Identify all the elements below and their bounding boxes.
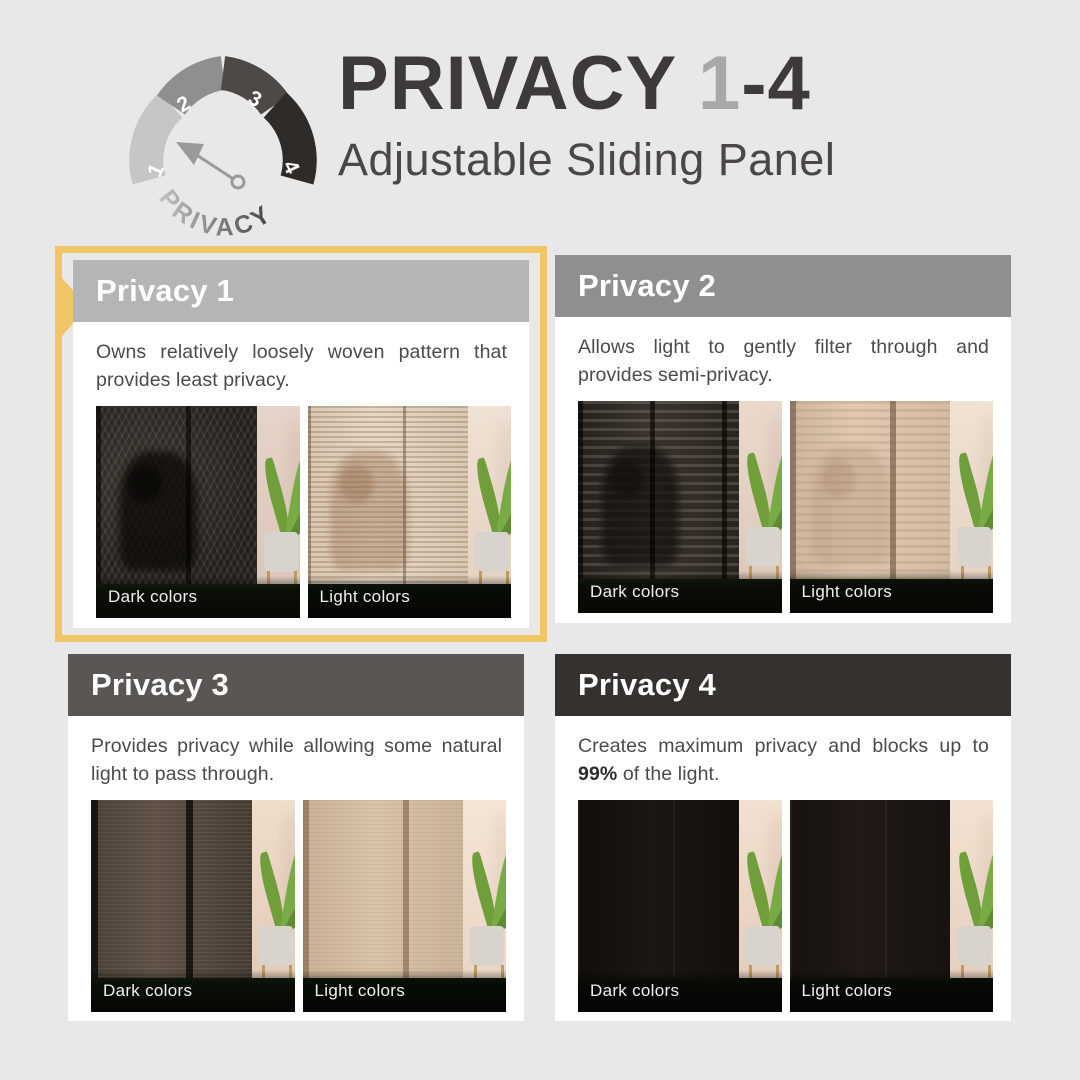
card-description-text-3: Provides privacy while allowing some nat… bbox=[91, 735, 502, 785]
photo-light-2[interactable]: Light colors bbox=[790, 401, 994, 613]
card-description-2: Allows light to gently filter through an… bbox=[555, 317, 1011, 389]
privacy-gauge-logo: 1 2 3 4 PRIVACY bbox=[128, 48, 318, 238]
panel-seams bbox=[303, 800, 464, 987]
plant-pot bbox=[957, 926, 991, 966]
card-description-4: Creates maximum privacy and blocks up to… bbox=[555, 716, 1011, 788]
panel-seams bbox=[578, 800, 739, 987]
panel-seams bbox=[790, 401, 951, 588]
card-description-tail-4: of the light. bbox=[617, 763, 719, 785]
plant-pot bbox=[264, 532, 298, 572]
photo-caption-light-3: Light colors bbox=[303, 970, 507, 1012]
photo-row-4: Dark colors bbox=[555, 788, 1011, 1028]
plant-pot bbox=[259, 926, 293, 966]
card-header-4: Privacy 4 bbox=[555, 654, 1011, 716]
card-title-1: Privacy 1 bbox=[96, 273, 234, 309]
sliding-panels bbox=[96, 406, 257, 593]
photo-dark-3[interactable]: Dark colors bbox=[91, 800, 295, 1012]
card-title-3: Privacy 3 bbox=[91, 667, 229, 703]
page-title-range-rest: -4 bbox=[741, 41, 811, 126]
sliding-panels bbox=[308, 406, 469, 593]
card-title-4: Privacy 4 bbox=[578, 667, 716, 703]
page-title-number-one: 1 bbox=[698, 41, 741, 126]
sliding-panels bbox=[578, 401, 739, 588]
page-title: PRIVACY 1-4 bbox=[338, 46, 938, 122]
card-header-1: Privacy 1 bbox=[73, 260, 529, 322]
sliding-panels bbox=[790, 401, 951, 588]
privacy-card-4[interactable]: Privacy 4 Creates maximum privacy and bl… bbox=[555, 654, 1025, 1021]
sliding-panels bbox=[303, 800, 464, 987]
plant-pot bbox=[470, 926, 504, 966]
photo-light-1[interactable]: Light colors bbox=[308, 406, 512, 618]
privacy-levels-grid: Privacy 1 Owns relatively loosely woven … bbox=[55, 246, 1025, 1021]
title-block: PRIVACY 1-4 Adjustable Sliding Panel bbox=[338, 46, 938, 183]
photo-row-3: Dark colors bbox=[68, 788, 524, 1028]
card-description-highlight-4: 99% bbox=[578, 763, 617, 785]
card-title-2: Privacy 2 bbox=[578, 268, 716, 304]
plant-pot bbox=[475, 532, 509, 572]
photo-row-1: Dark colors bbox=[73, 394, 529, 634]
card-header-2: Privacy 2 bbox=[555, 255, 1011, 317]
panel-seams bbox=[308, 406, 469, 593]
card-body-3: Privacy 3 Provides privacy while allowin… bbox=[68, 654, 524, 1021]
photo-dark-1[interactable]: Dark colors bbox=[96, 406, 300, 618]
panel-seams bbox=[578, 401, 739, 588]
card-header-3: Privacy 3 bbox=[68, 654, 524, 716]
card-description-text-1: Owns relatively loosely woven pattern th… bbox=[96, 341, 507, 391]
gauge-needle-icon bbox=[176, 142, 244, 188]
card-description-3: Provides privacy while allowing some nat… bbox=[68, 716, 524, 788]
plant-pot bbox=[746, 527, 780, 567]
sliding-panels bbox=[790, 800, 951, 987]
photo-dark-2[interactable]: Dark colors bbox=[578, 401, 782, 613]
panel-seams bbox=[790, 800, 951, 987]
page-header: 1 2 3 4 PRIVACY bbox=[0, 38, 1080, 218]
sliding-panels bbox=[578, 800, 739, 987]
photo-caption-dark-4: Dark colors bbox=[578, 970, 782, 1012]
card-body-4: Privacy 4 Creates maximum privacy and bl… bbox=[555, 654, 1011, 1021]
sliding-panels bbox=[91, 800, 252, 987]
panel-seams bbox=[96, 406, 257, 593]
plant-pot bbox=[957, 527, 991, 567]
photo-caption-light-1: Light colors bbox=[308, 576, 512, 618]
privacy-card-3[interactable]: Privacy 3 Provides privacy while allowin… bbox=[68, 654, 538, 1021]
card-description-text-2: Allows light to gently filter through an… bbox=[578, 336, 989, 386]
card-body-1: Privacy 1 Owns relatively loosely woven … bbox=[73, 260, 529, 628]
photo-row-2: Dark colors bbox=[555, 389, 1011, 629]
privacy-card-2[interactable]: Privacy 2 Allows light to gently filter … bbox=[555, 255, 1025, 633]
photo-caption-light-4: Light colors bbox=[790, 970, 994, 1012]
photo-caption-dark-2: Dark colors bbox=[578, 571, 782, 613]
photo-caption-dark-3: Dark colors bbox=[91, 970, 295, 1012]
photo-caption-light-2: Light colors bbox=[790, 571, 994, 613]
photo-dark-4[interactable]: Dark colors bbox=[578, 800, 782, 1012]
gauge-icon: 1 2 3 4 PRIVACY bbox=[128, 48, 318, 238]
photo-light-3[interactable]: Light colors bbox=[303, 800, 507, 1012]
photo-light-4[interactable]: Light colors bbox=[790, 800, 994, 1012]
privacy-card-1[interactable]: Privacy 1 Owns relatively loosely woven … bbox=[55, 246, 525, 642]
gauge-wordmark: PRIVACY bbox=[153, 184, 278, 238]
card-description-text-4: Creates maximum privacy and blocks up to bbox=[578, 735, 989, 757]
card-body-2: Privacy 2 Allows light to gently filter … bbox=[555, 255, 1011, 623]
page-title-main: PRIVACY bbox=[338, 41, 676, 126]
panel-seams bbox=[91, 800, 252, 987]
card-description-1: Owns relatively loosely woven pattern th… bbox=[73, 322, 529, 394]
plant-pot bbox=[746, 926, 780, 966]
page-subtitle: Adjustable Sliding Panel bbox=[338, 136, 938, 183]
photo-caption-dark-1: Dark colors bbox=[96, 576, 300, 618]
